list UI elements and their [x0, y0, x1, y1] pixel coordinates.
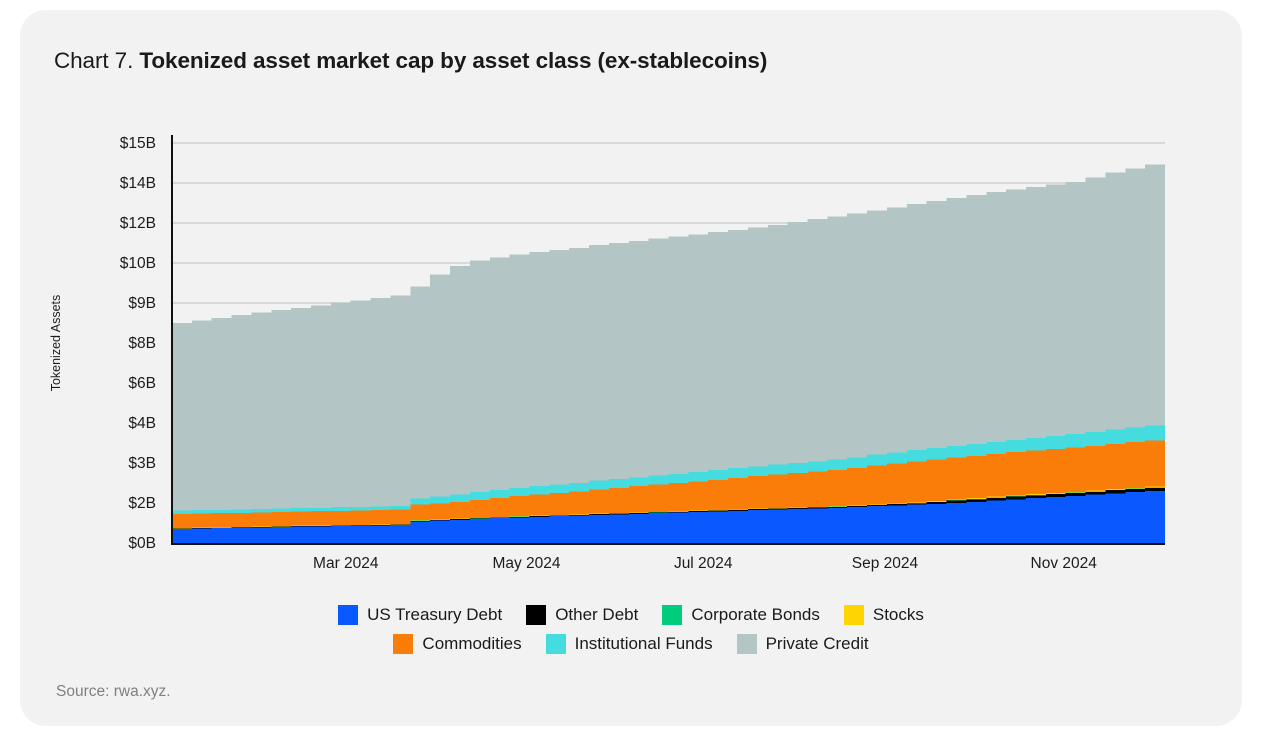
y-axis-tick-label: $2B: [128, 495, 156, 512]
y-axis-tick-label: $12B: [120, 215, 156, 232]
legend-corporate-bonds[interactable]: Corporate Bonds: [662, 605, 820, 625]
y-axis-tick-label: $3B: [128, 455, 156, 472]
chart-legend: US Treasury DebtOther DebtCorporate Bond…: [20, 605, 1242, 663]
legend-swatch-icon: [393, 634, 413, 654]
y-axis-tick-labels: $0B$2B$3B$4B$6B$8B$9B$10B$12B$14B$15B: [120, 135, 156, 552]
x-axis-tick-label: Sep 2024: [852, 555, 919, 572]
y-axis-tick-label: $8B: [128, 335, 156, 352]
y-axis-tick-label: $4B: [128, 415, 156, 432]
legend-label: Corporate Bonds: [691, 605, 820, 625]
y-axis-tick-label: $0B: [128, 535, 156, 552]
chart-card: Chart 7. Tokenized asset market cap by a…: [20, 10, 1242, 726]
legend-swatch-icon: [526, 605, 546, 625]
legend-swatch-icon: [737, 634, 757, 654]
legend-label: Institutional Funds: [575, 634, 713, 654]
legend-swatch-icon: [844, 605, 864, 625]
legend-label: Other Debt: [555, 605, 638, 625]
legend-institutional-funds[interactable]: Institutional Funds: [546, 634, 713, 654]
y-axis-tick-label: $14B: [120, 175, 156, 192]
legend-swatch-icon: [662, 605, 682, 625]
y-axis-tick-label: $15B: [120, 135, 156, 152]
y-axis-tick-label: $10B: [120, 255, 156, 272]
y-axis-title-label: Tokenized Assets: [49, 295, 63, 392]
legend-row-1: US Treasury DebtOther DebtCorporate Bond…: [20, 605, 1242, 625]
y-axis-tick-label: $6B: [128, 375, 156, 392]
legend-stocks[interactable]: Stocks: [844, 605, 924, 625]
legend-commodities[interactable]: Commodities: [393, 634, 521, 654]
source-note: Source: rwa.xyz.: [56, 683, 171, 701]
y-axis-tick-label: $9B: [128, 295, 156, 312]
x-axis-tick-labels: Mar 2024May 2024Jul 2024Sep 2024Nov 2024: [313, 555, 1097, 572]
legend-row-2: CommoditiesInstitutional FundsPrivate Cr…: [20, 634, 1242, 654]
y-axis-title: Tokenized Assets: [49, 295, 63, 392]
legend-label: Private Credit: [766, 634, 869, 654]
legend-swatch-icon: [338, 605, 358, 625]
x-axis-tick-label: Jul 2024: [674, 555, 733, 572]
legend-private-credit[interactable]: Private Credit: [737, 634, 869, 654]
legend-us-treasury-debt[interactable]: US Treasury Debt: [338, 605, 502, 625]
legend-label: Stocks: [873, 605, 924, 625]
area-series-group: [172, 162, 1165, 543]
legend-swatch-icon: [546, 634, 566, 654]
legend-label: US Treasury Debt: [367, 605, 502, 625]
x-axis-tick-label: May 2024: [492, 555, 560, 572]
x-axis-tick-label: Mar 2024: [313, 555, 379, 572]
x-axis-tick-label: Nov 2024: [1031, 555, 1098, 572]
legend-label: Commodities: [422, 634, 521, 654]
legend-other-debt[interactable]: Other Debt: [526, 605, 638, 625]
